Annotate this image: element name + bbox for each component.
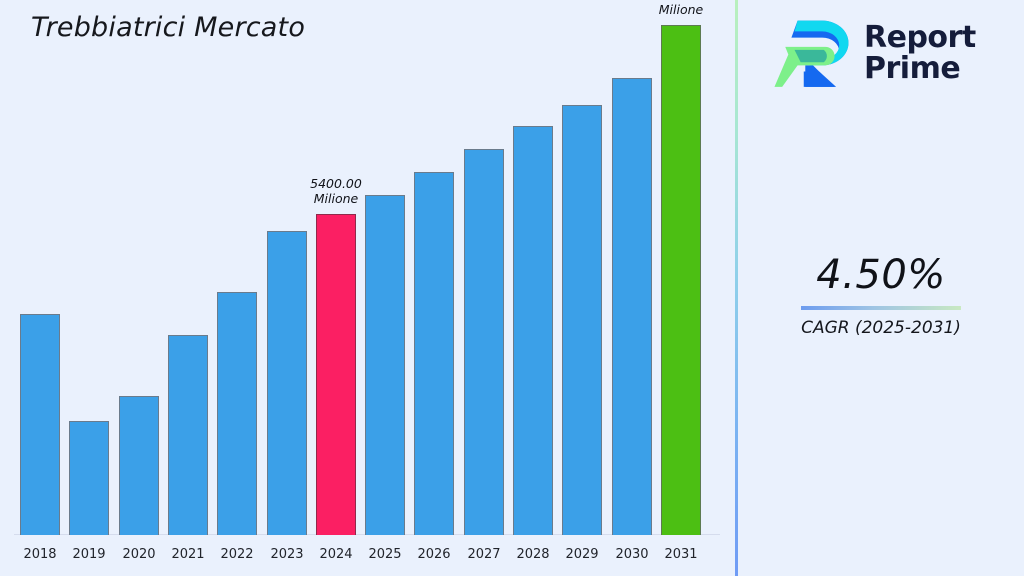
brand-panel: Report Prime 4.50% CAGR (2025-2031) (738, 0, 1024, 576)
x-axis-tick-2021: 2021 (163, 547, 213, 562)
bar-2019[interactable] (69, 421, 109, 535)
x-axis-tick-2020: 2020 (114, 547, 164, 562)
x-axis-tick-2023: 2023 (262, 547, 312, 562)
bar-2025[interactable] (365, 195, 405, 535)
report-prime-logo-mark-icon (774, 16, 852, 90)
x-axis-tick-2022: 2022 (212, 547, 262, 562)
bar-value-number-2031: 7348.65 (633, 0, 729, 2)
bar-2031[interactable] (661, 25, 701, 535)
bar-value-unit-2031: Milione (633, 2, 729, 17)
bar-2029[interactable] (562, 105, 602, 535)
x-axis-tick-2024: 2024 (311, 547, 361, 562)
bar-2022[interactable] (217, 292, 257, 535)
x-axis-tick-2031: 2031 (656, 547, 706, 562)
cagr-caption: CAGR (2025-2031) (738, 318, 1024, 338)
x-axis-tick-2029: 2029 (557, 547, 607, 562)
x-axis-tick-2027: 2027 (459, 547, 509, 562)
bar-2028[interactable] (513, 126, 553, 535)
x-axis-tick-2030: 2030 (607, 547, 657, 562)
bar-2024[interactable] (316, 214, 356, 535)
bar-2018[interactable] (20, 314, 60, 535)
bar-2026[interactable] (414, 172, 454, 535)
x-axis-tick-2028: 2028 (508, 547, 558, 562)
brand-logo: Report Prime (774, 12, 1004, 94)
chart-page: Trebbiatrici Mercato 2018201920202021202… (0, 0, 1024, 576)
bar-value-label-2031: 7348.65Milione (633, 0, 729, 17)
bar-2020[interactable] (119, 396, 159, 535)
cagr-value: 4.50% (738, 252, 1024, 298)
cagr-divider-rule (801, 306, 961, 310)
brand-name-line1: Report (864, 22, 976, 53)
bar-2027[interactable] (464, 149, 504, 535)
bar-2023[interactable] (267, 231, 307, 535)
bar-value-number-2024: 5400.00 (288, 176, 384, 191)
x-axis-tick-2019: 2019 (64, 547, 114, 562)
bar-chart-plot: 20182019202020212022202320245400.00Milio… (0, 0, 735, 576)
chart-panel: Trebbiatrici Mercato 2018201920202021202… (0, 0, 735, 576)
bar-2030[interactable] (612, 78, 652, 535)
brand-name: Report Prime (864, 22, 976, 84)
brand-name-line2: Prime (864, 53, 976, 84)
x-axis-tick-2026: 2026 (409, 547, 459, 562)
bar-2021[interactable] (168, 335, 208, 535)
x-axis-tick-2018: 2018 (15, 547, 65, 562)
x-axis-tick-2025: 2025 (360, 547, 410, 562)
cagr-block: 4.50% CAGR (2025-2031) (738, 252, 1024, 338)
